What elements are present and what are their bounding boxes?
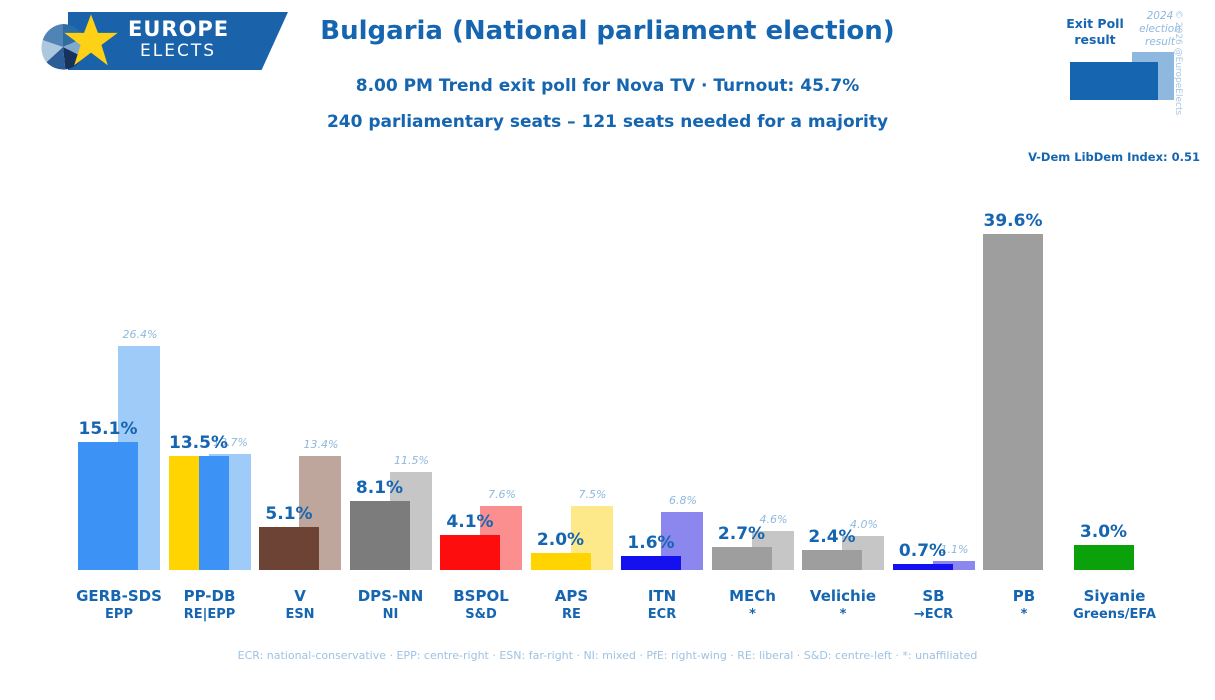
x-axis-labels: GERB-SDSEPPPP-DBRE|EPPVESNDPS-NNNIBSPOLS… <box>0 586 1215 642</box>
legend-current-swatch <box>1070 62 1158 100</box>
bar-current-result <box>1074 545 1134 570</box>
bar-label-current: 2.7% <box>700 524 784 544</box>
bar-segment <box>712 547 772 570</box>
bar-group: 7.6%4.1% <box>440 170 534 570</box>
bar-segment <box>621 556 681 570</box>
bar-group: 4.6%2.7% <box>712 170 806 570</box>
poll-subtitle: 8.00 PM Trend exit poll for Nova TV · Tu… <box>0 76 1215 96</box>
bar-group: 6.8%1.6% <box>621 170 715 570</box>
bar-group: 39.6% <box>983 170 1077 570</box>
bar-label-current: 2.0% <box>519 530 603 550</box>
page-title: Bulgaria (National parliament election) <box>0 16 1215 46</box>
bar-label-current: 1.6% <box>609 533 693 553</box>
bar-group: 11.5%8.1% <box>350 170 444 570</box>
bar-chart-plot: 26.4%15.1%13.7%13.5%13.4%5.1%11.5%8.1%7.… <box>0 170 1215 570</box>
seats-subtitle: 240 parliamentary seats – 121 seats need… <box>0 112 1215 132</box>
bar-label-current: 39.6% <box>971 211 1055 231</box>
bar-label-current: 2.4% <box>790 527 874 547</box>
bar-current-result <box>78 442 138 570</box>
bar-group: 4.0%2.4% <box>802 170 896 570</box>
bar-segment <box>78 442 138 570</box>
bar-current-result <box>440 535 500 570</box>
legend-current-label: Exit Poll result <box>1062 16 1128 48</box>
x-tick-siyanie: SiyanieGreens/EFA <box>1055 586 1175 624</box>
bar-label-current: 4.1% <box>428 512 512 532</box>
bar-current-result <box>350 501 410 570</box>
bar-current-result <box>531 553 591 570</box>
bar-segment <box>350 501 410 570</box>
footnote: ECR: national-conservative · EPP: centre… <box>0 649 1215 662</box>
bar-segment <box>802 550 862 570</box>
vdem-index: V-Dem LibDem Index: 0.51 <box>955 150 1200 164</box>
bar-group: 13.4%5.1% <box>259 170 353 570</box>
bar-label-current: 8.1% <box>338 478 422 498</box>
party-group: Greens/EFA <box>1055 606 1175 624</box>
bar-group: 3.0% <box>1074 170 1168 570</box>
bar-label-current: 0.7% <box>881 541 965 561</box>
bar-group: 7.5%2.0% <box>531 170 625 570</box>
bar-label-current: 5.1% <box>247 504 331 524</box>
bar-label-current: 15.1% <box>66 419 150 439</box>
bar-segment <box>1074 545 1134 570</box>
bar-segment <box>983 234 1043 570</box>
bar-current-result <box>712 547 772 570</box>
bar-segment <box>169 456 199 570</box>
bar-group: 26.4%15.1% <box>78 170 172 570</box>
bar-segment <box>440 535 500 570</box>
bar-label-current: 13.5% <box>157 433 241 453</box>
bar-segment <box>893 564 953 570</box>
bar-current-result <box>169 456 229 570</box>
bar-segment <box>199 456 229 570</box>
party-name: Siyanie <box>1055 586 1175 606</box>
bar-current-result <box>983 234 1043 570</box>
bar-current-result <box>621 556 681 570</box>
bar-current-result <box>259 527 319 570</box>
bar-current-result <box>893 564 953 570</box>
bar-segment <box>259 527 319 570</box>
copyright-notice: © 2026 @EuropeElects <box>1173 10 1183 115</box>
bar-segment <box>531 553 591 570</box>
bar-label-current: 3.0% <box>1062 522 1146 542</box>
bar-current-result <box>802 550 862 570</box>
